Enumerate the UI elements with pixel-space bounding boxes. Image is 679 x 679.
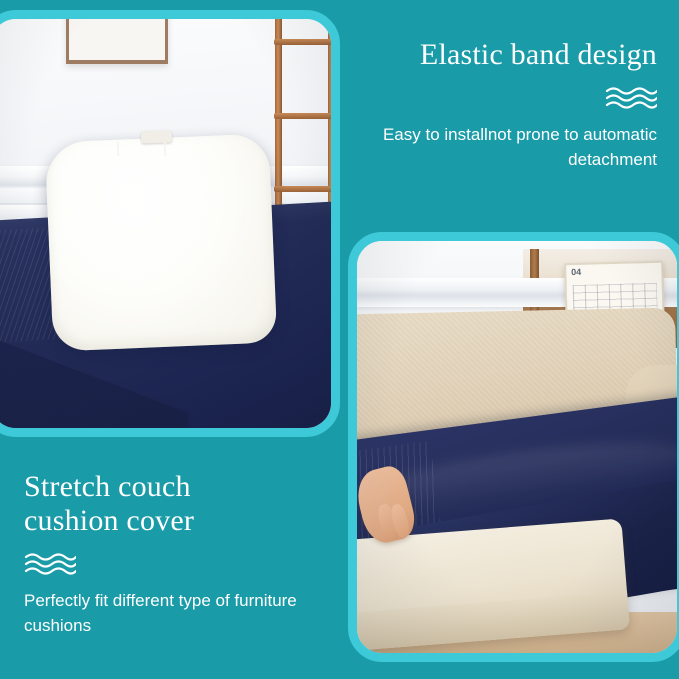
calendar-month-label: 04	[571, 267, 581, 277]
wall-picture-frame	[66, 19, 168, 64]
shelf-post-left	[275, 19, 282, 232]
white-cushion-insert	[45, 133, 278, 351]
cover-seam-left	[116, 142, 119, 156]
feature-headline-line2: cushion cover	[24, 504, 324, 538]
shelf-post-right	[328, 19, 331, 232]
feature-subline: Perfectly fit different type of furnitur…	[24, 589, 324, 638]
feature-headline: Elastic band design	[357, 38, 657, 72]
shelf-rail-top	[274, 39, 331, 45]
wave-divider-icon	[605, 85, 657, 111]
wave-divider-icon	[24, 551, 76, 577]
feature-block-stretch-cover: Stretch couch cushion cover Perfectly fi…	[24, 470, 324, 639]
product-photo-cushion-cover	[0, 10, 340, 437]
feature-block-elastic-band: Elastic band design Easy to installnot p…	[357, 38, 657, 172]
wooden-shelf-unit	[270, 19, 331, 232]
feature-headline-line1: Stretch couch	[24, 470, 324, 504]
elastic-band-tab	[140, 131, 171, 144]
infographic-canvas: 04 Elas	[0, 0, 679, 679]
shelf-rail-bottom	[274, 186, 331, 192]
product-photo-stretch-demo: 04	[348, 232, 679, 662]
photo-right-scene: 04	[357, 241, 677, 653]
photo-left-scene	[0, 19, 331, 428]
feature-subline: Easy to installnot prone to automatic de…	[357, 123, 657, 172]
divider-wrap	[357, 72, 657, 123]
shelf-rail-middle	[274, 113, 331, 119]
divider-wrap	[24, 538, 324, 589]
